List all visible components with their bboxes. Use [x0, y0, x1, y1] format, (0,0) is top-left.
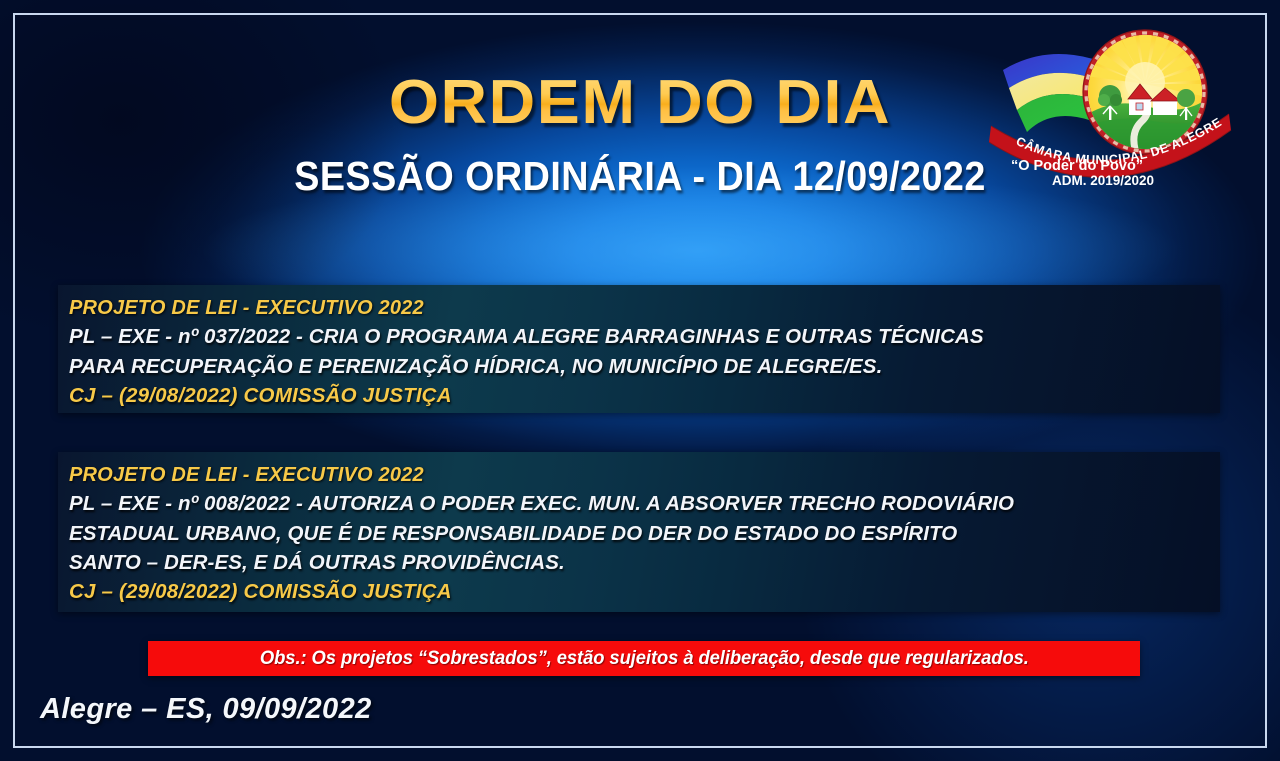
poster-canvas: CÂMARA MUNICIPAL DE ALEGRE - ES “O Poder…	[0, 0, 1280, 761]
logo-administration: ADM. 2019/2020	[1052, 173, 1154, 188]
agenda-item-commission: CJ – (29/08/2022) COMISSÃO JUSTIÇA	[69, 381, 1210, 410]
agenda-item-text-line: SANTO – DER-ES, E DÁ OUTRAS PROVIDÊNCIAS…	[69, 548, 1210, 577]
camara-municipal-logo: CÂMARA MUNICIPAL DE ALEGRE - ES “O Poder…	[985, 22, 1235, 197]
agenda-item-text-line: PARA RECUPERAÇÃO E PERENIZAÇÃO HÍDRICA, …	[69, 352, 1210, 381]
agenda-item-text-line: PL – EXE - nº 037/2022 - CRIA O PROGRAMA…	[69, 322, 1210, 351]
agenda-item-commission: CJ – (29/08/2022) COMISSÃO JUSTIÇA	[69, 577, 1210, 606]
location-date-footer: Alegre – ES, 09/09/2022	[40, 693, 372, 726]
agenda-item-text-line: PL – EXE - nº 008/2022 - AUTORIZA O PODE…	[69, 489, 1210, 518]
agenda-item-heading: PROJETO DE LEI - EXECUTIVO 2022	[69, 461, 1210, 489]
agenda-item-text-line: ESTADUAL URBANO, QUE É DE RESPONSABILIDA…	[69, 519, 1210, 548]
agenda-item-card: PROJETO DE LEI - EXECUTIVO 2022 PL – EXE…	[58, 452, 1220, 612]
observation-text: Obs.: Os projetos “Sobrestados”, estão s…	[260, 648, 1029, 670]
agenda-item-card: PROJETO DE LEI - EXECUTIVO 2022 PL – EXE…	[58, 285, 1220, 413]
agenda-item-heading: PROJETO DE LEI - EXECUTIVO 2022	[69, 294, 1210, 322]
observation-banner: Obs.: Os projetos “Sobrestados”, estão s…	[148, 641, 1140, 676]
logo-motto: “O Poder do Povo”	[1011, 158, 1143, 174]
